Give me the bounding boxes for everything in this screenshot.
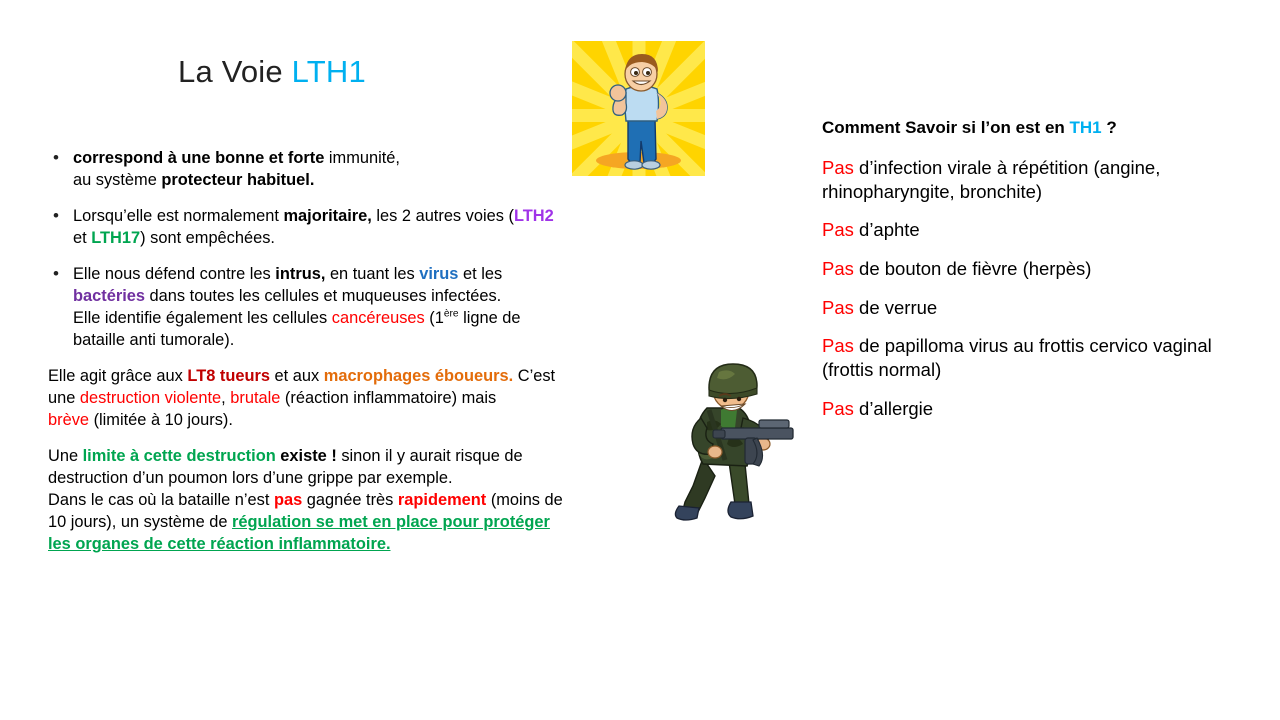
run-sinon-risque: sinon il y aurait risque de bbox=[337, 447, 523, 465]
run-organes-reaction: les organes de cette réaction inflammato… bbox=[48, 535, 391, 553]
bullet-marker-icon: • bbox=[53, 147, 59, 170]
run-lorsquelle: Lorsqu’elle est normalement bbox=[73, 207, 283, 225]
item-verrue: Pas de verrue bbox=[822, 296, 1234, 320]
run-bataille-tumorale: bataille anti tumorale). bbox=[73, 331, 234, 349]
item-text: de papilloma virus au frottis cervico va… bbox=[822, 335, 1212, 380]
run-dans-le-cas: Dans le cas où la bataille n’est bbox=[48, 491, 274, 509]
left-content-column: •correspond à une bonne et forte immunit… bbox=[46, 148, 671, 570]
item-papilloma: Pas de papilloma virus au frottis cervic… bbox=[822, 334, 1234, 381]
run-une2: Une bbox=[48, 447, 83, 465]
para-lt8-macrophages: Elle agit grâce aux LT8 tueurs et aux ma… bbox=[46, 366, 671, 432]
run-majoritaire: majoritaire, bbox=[283, 207, 371, 225]
run-limitee-10-jours: (limitée à 10 jours). bbox=[89, 411, 233, 429]
item-infection-virale: Pas d’infection virale à répétition (ang… bbox=[822, 156, 1234, 203]
run-et-les: et les bbox=[458, 265, 502, 283]
run-destruction-poumon: destruction d’un poumon lors d’une gripp… bbox=[48, 469, 453, 487]
pas-label: Pas bbox=[822, 219, 854, 240]
run-limite-destruction: limite à cette destruction bbox=[83, 447, 276, 465]
right-content-column: Comment Savoir si l’on est en TH1 ? Pas … bbox=[822, 117, 1234, 435]
run-moins-de: (moins de bbox=[486, 491, 563, 509]
run-premiere-open: (1 bbox=[425, 309, 444, 327]
run-en-tuant: en tuant les bbox=[325, 265, 419, 283]
item-text: d’infection virale à répétition (angine,… bbox=[822, 157, 1160, 202]
run-brutale: brutale bbox=[230, 389, 280, 407]
run-cellules-infectees: dans toutes les cellules et muqueuses in… bbox=[145, 287, 501, 305]
run-breve: brève bbox=[48, 411, 89, 429]
page-title-plain: La Voie bbox=[178, 54, 292, 89]
pas-label: Pas bbox=[822, 297, 854, 318]
run-elle-agit: Elle agit grâce aux bbox=[48, 367, 187, 385]
run-lth17: LTH17 bbox=[91, 229, 140, 247]
run-autres-voies: les 2 autres voies ( bbox=[372, 207, 514, 225]
bullet-marker-icon: • bbox=[53, 263, 59, 286]
right-column-heading: Comment Savoir si l’on est en TH1 ? bbox=[822, 117, 1234, 139]
pas-label: Pas bbox=[822, 157, 854, 178]
run-et: et bbox=[73, 229, 91, 247]
run-gagnee-tres: gagnée très bbox=[302, 491, 398, 509]
run-rapidement: rapidement bbox=[398, 491, 486, 509]
run-reaction-inflammatoire: (réaction inflammatoire) mais bbox=[280, 389, 496, 407]
run-ligne-de: ligne de bbox=[459, 309, 521, 327]
run-cancereuses: cancéreuses bbox=[332, 309, 425, 327]
run-lth2: LTH2 bbox=[514, 207, 554, 225]
heading-accent-th1: TH1 bbox=[1070, 118, 1102, 137]
run-virus: virus bbox=[419, 265, 458, 283]
heading-tail: ? bbox=[1102, 118, 1117, 137]
run-une: une bbox=[48, 389, 80, 407]
run-correspond-bold: correspond à une bonne et forte bbox=[73, 149, 329, 167]
run-destruction-violente: destruction violente bbox=[80, 389, 221, 407]
run-immunite: immunité, bbox=[329, 149, 400, 167]
run-elle-identifie: Elle identifie également les cellules bbox=[73, 309, 332, 327]
page-title: La Voie LTH1 bbox=[178, 54, 366, 90]
item-text: de bouton de fièvre (herpès) bbox=[854, 258, 1092, 279]
pas-label: Pas bbox=[822, 335, 854, 356]
soldier-illustration bbox=[663, 352, 809, 528]
item-text: de verrue bbox=[854, 297, 937, 318]
soldier-figure bbox=[663, 352, 809, 528]
item-bouton-fievre: Pas de bouton de fièvre (herpès) bbox=[822, 257, 1234, 281]
pas-label: Pas bbox=[822, 258, 854, 279]
item-text: d’allergie bbox=[854, 398, 933, 419]
bullet-marker-icon: • bbox=[53, 205, 59, 228]
bullet-immunite: •correspond à une bonne et forte immunit… bbox=[46, 148, 671, 192]
run-protecteur-habituel: protecteur habituel. bbox=[161, 171, 314, 189]
run-pas: pas bbox=[274, 491, 302, 509]
run-regulation-protege: régulation se met en place pour protéger bbox=[232, 513, 550, 531]
run-au-systeme: au système bbox=[73, 171, 161, 189]
run-comma: , bbox=[221, 389, 230, 407]
item-text: d’aphte bbox=[854, 219, 920, 240]
run-intrus: intrus, bbox=[275, 265, 325, 283]
run-elle-defend: Elle nous défend contre les bbox=[73, 265, 275, 283]
item-allergie: Pas d’allergie bbox=[822, 397, 1234, 421]
run-ere-superscript: ère bbox=[444, 308, 459, 319]
run-cest: C’est bbox=[513, 367, 555, 385]
page-title-accent: LTH1 bbox=[292, 54, 366, 89]
run-bacteries: bactéries bbox=[73, 287, 145, 305]
slide-canvas: La Voie LTH1 bbox=[0, 0, 1280, 720]
item-aphte: Pas d’aphte bbox=[822, 218, 1234, 242]
run-macrophages-eboueurs: macrophages éboueurs. bbox=[324, 367, 513, 385]
bullet-intrus: •Elle nous défend contre les intrus, en … bbox=[46, 264, 671, 352]
para-limite-regulation: Une limite à cette destruction existe ! … bbox=[46, 446, 671, 556]
heading-lead: Comment Savoir si l’on est en bbox=[822, 118, 1070, 137]
run-10-jours-systeme: 10 jours), un système de bbox=[48, 513, 232, 531]
pas-label: Pas bbox=[822, 398, 854, 419]
bullet-majoritaire: •Lorsqu’elle est normalement majoritaire… bbox=[46, 206, 671, 250]
run-existe: existe ! bbox=[276, 447, 337, 465]
run-et-aux: et aux bbox=[270, 367, 324, 385]
run-lt8-tueurs: LT8 tueurs bbox=[187, 367, 270, 385]
run-sont-empechees: ) sont empêchées. bbox=[140, 229, 275, 247]
